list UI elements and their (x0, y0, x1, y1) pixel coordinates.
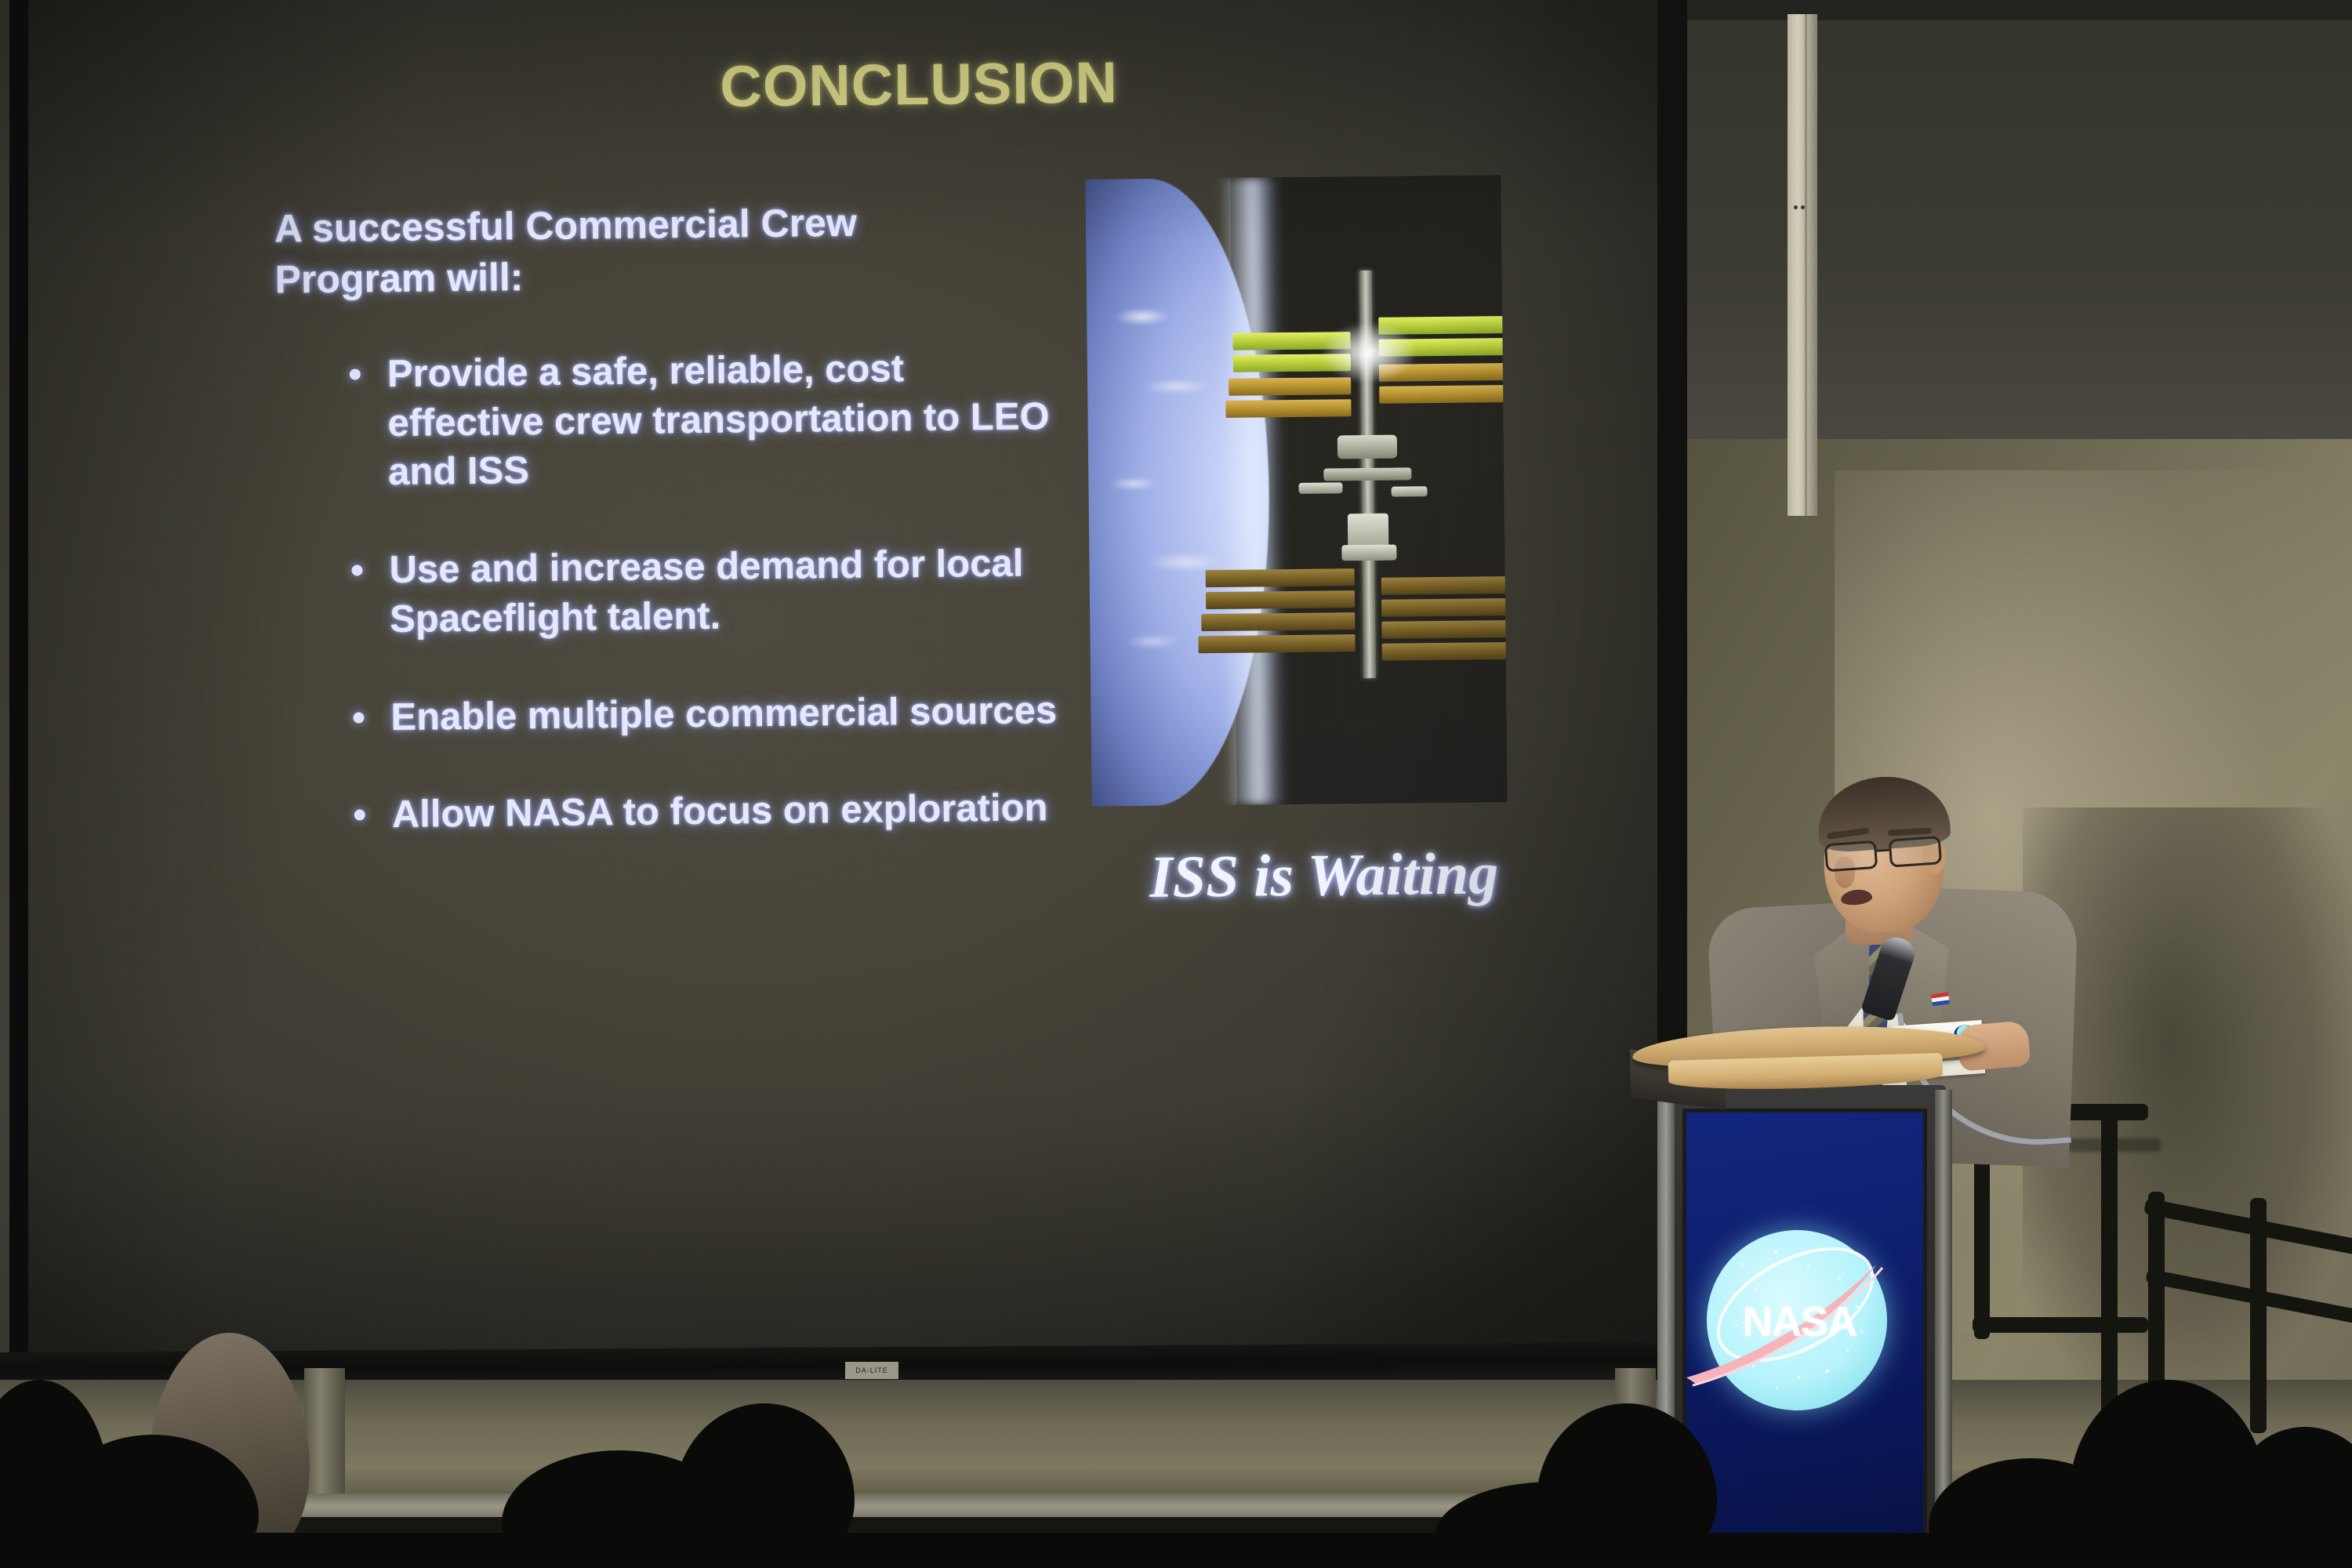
auditorium-scene: CONCLUSION A successful Commercial Crew … (0, 0, 2352, 1568)
iss-module (1341, 545, 1396, 561)
iss-module (1323, 467, 1411, 481)
slide-bullet-list: Provide a safe, reliable, cost effective… (339, 343, 1065, 840)
bullet-text: Enable multiple commercial sources (390, 689, 1057, 739)
nasa-wordmark: NASA (1713, 1298, 1886, 1346)
list-item: Enable multiple commercial sources (342, 686, 1064, 742)
bullet-dot-icon (354, 810, 365, 821)
bullet-dot-icon (353, 712, 364, 723)
iss-module (1298, 482, 1342, 494)
iss-module (1338, 435, 1397, 459)
projection-screen: CONCLUSION A successful Commercial Crew … (28, 0, 1657, 1355)
nasa-logo-panel: NASA (1682, 1109, 1927, 1548)
slide-intro-text: A successful Commercial Crew Program wil… (274, 196, 981, 305)
list-item: Provide a safe, reliable, cost effective… (339, 343, 1062, 498)
list-item: Allow NASA to focus on exploration (343, 783, 1065, 840)
eyeglass-lens-left (1824, 840, 1878, 873)
door-jamb-seam (1805, 14, 1807, 516)
list-item: Use and increase demand for local Spacef… (340, 539, 1062, 644)
presentation-slide: CONCLUSION A successful Commercial Crew … (28, 0, 1657, 1355)
iss-module (1391, 486, 1427, 496)
american-flag-pin-icon (1931, 993, 1950, 1007)
ceiling-strip (1658, 0, 2352, 20)
guard-rail-post (2101, 1104, 2118, 1441)
earth-atmosphere-glow (1218, 177, 1287, 805)
solar-panel-glint (1322, 321, 1417, 383)
door-jamb (1788, 14, 1817, 516)
iss-photo (1085, 175, 1507, 807)
guard-rail-mid (1973, 1317, 2148, 1333)
iss-caption: ISS is Waiting (1073, 839, 1575, 913)
wall-post (304, 1368, 345, 1505)
bullet-dot-icon (351, 565, 362, 576)
screen-border-left (9, 0, 30, 1360)
right-wall-upper-shadow (1658, 0, 2352, 439)
door-jamb-screws (1794, 205, 1805, 209)
eyeglass-lens-right (1889, 836, 1942, 868)
foreground-darkness (0, 1533, 2352, 1568)
bullet-text: Allow NASA to focus on exploration (392, 787, 1048, 837)
bullet-text: Use and increase demand for local Spacef… (389, 543, 1023, 641)
bullet-dot-icon (350, 368, 361, 379)
slide-title: CONCLUSION (28, 43, 1651, 127)
screen-brand-label: DA-LITE (845, 1362, 898, 1379)
bullet-text: Provide a safe, reliable, cost effective… (387, 347, 1050, 493)
eyeglass-bridge (1877, 849, 1889, 852)
